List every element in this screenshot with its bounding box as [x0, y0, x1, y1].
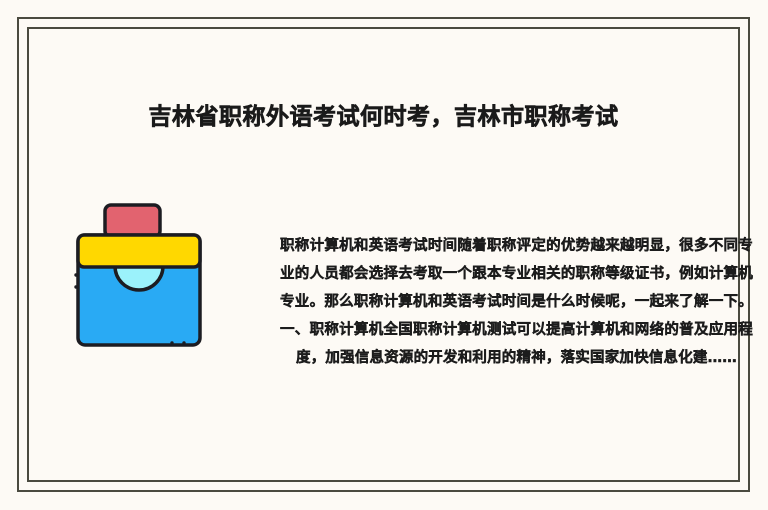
briefcase-band-shape: [78, 235, 200, 267]
decorative-dot: [182, 341, 185, 344]
article-card-inner-frame: 吉林省职称外语考试何时考，吉林市职称考试: [27, 27, 740, 482]
article-card-outer-frame: 吉林省职称外语考试何时考，吉林市职称考试: [17, 17, 750, 492]
article-body-text: 职称计算机和英语考试时间随着职称评定的优势越来越明显，很多不同专业的人员都会选择…: [280, 232, 753, 372]
briefcase-handle-shape: [105, 205, 160, 237]
decorative-dot: [74, 273, 77, 276]
article-content-row: 职称计算机和英语考试时间随着职称评定的优势越来越明显，很多不同专业的人员都会选择…: [29, 179, 738, 439]
briefcase-toolbox-icon: [74, 197, 214, 347]
decorative-dot: [170, 341, 173, 344]
decorative-dot: [74, 285, 77, 288]
page-title: 吉林省职称外语考试何时考，吉林市职称考试: [29, 102, 738, 132]
